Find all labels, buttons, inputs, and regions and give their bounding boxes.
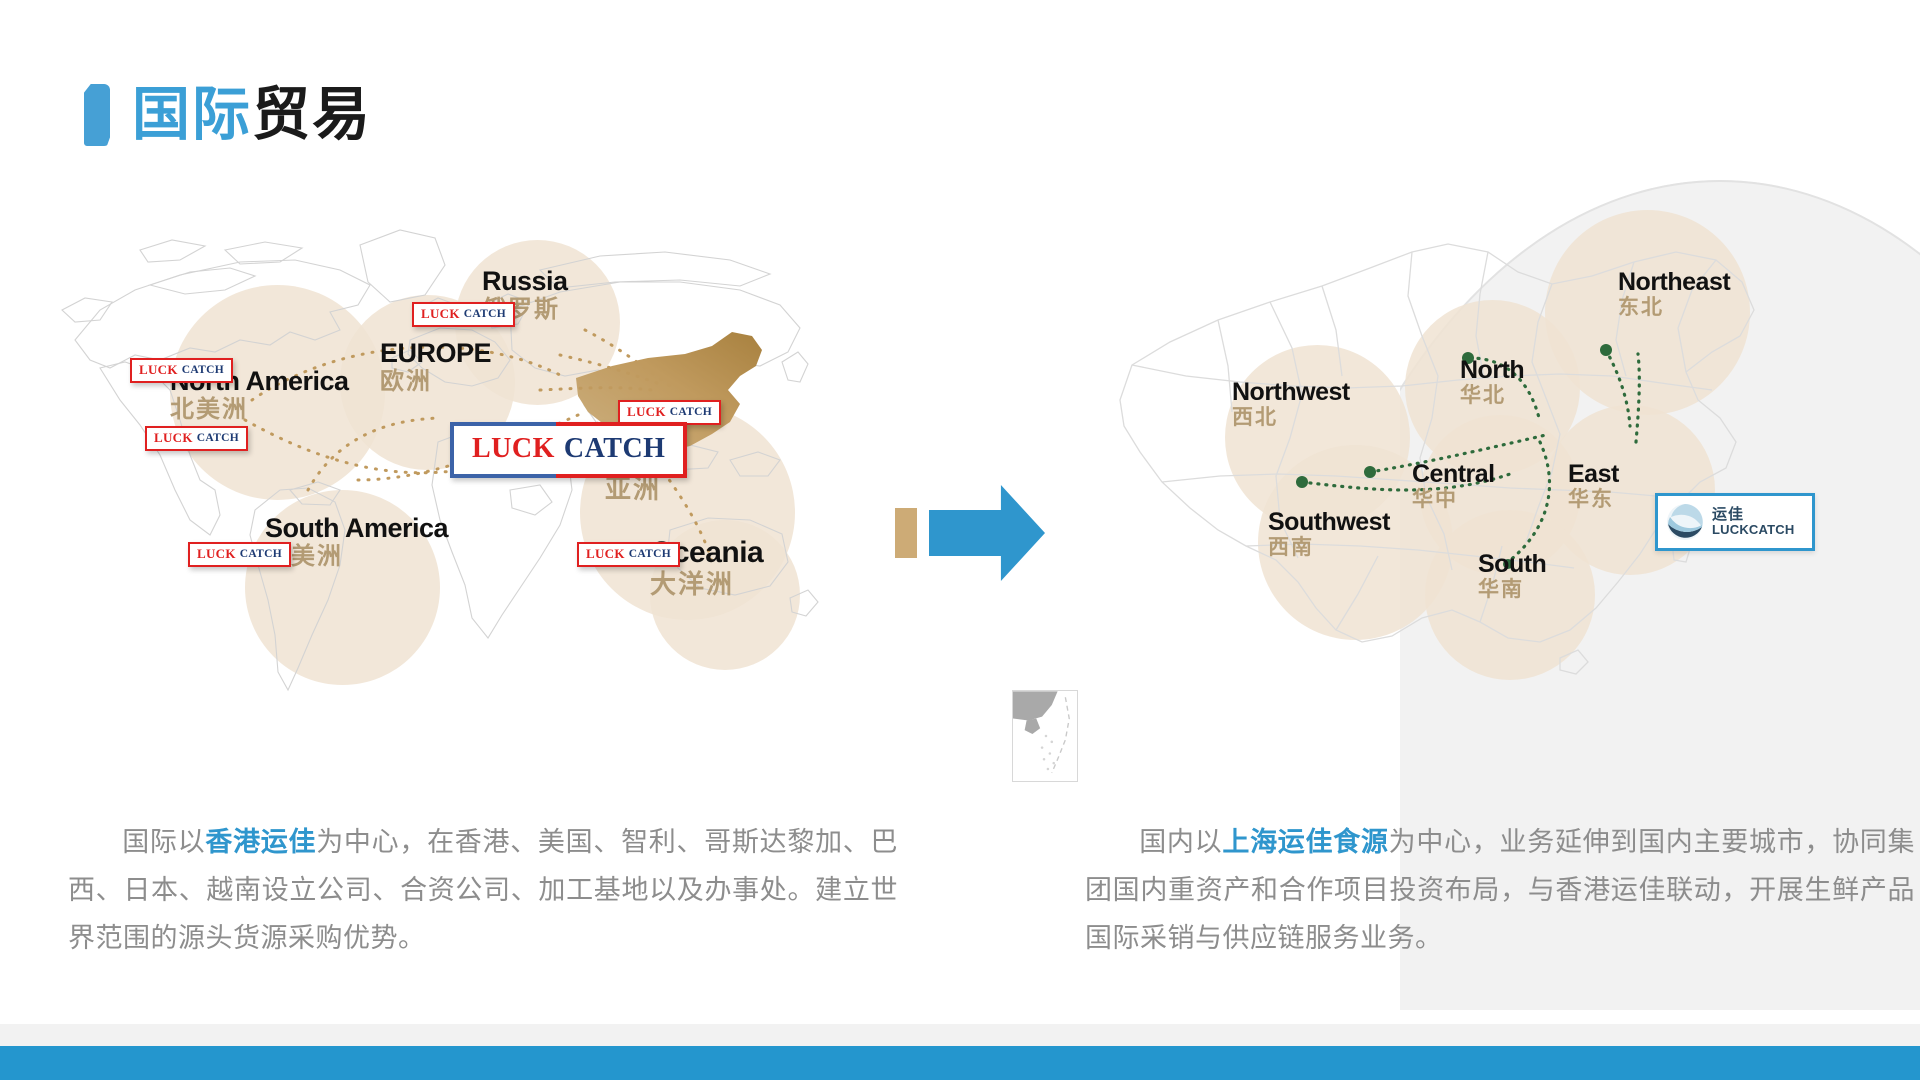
luck-catch-badge-oceania[interactable]: LUCKCATCH [577, 542, 680, 567]
paragraph-international: 国际以香港运佳为中心，在香港、美国、智利、哥斯达黎加、巴西、日本、越南设立公司、… [68, 818, 898, 962]
para-prefix: 国内以 [1139, 827, 1222, 857]
region-cn: 西南 [1268, 537, 1390, 558]
badge-catch: CATCH [629, 548, 671, 560]
badge-catch: CATCH [197, 432, 239, 444]
paragraph-domestic: 国内以上海运佳食源为中心，业务延伸到国内主要城市，协同集团国内重资产和合作项目投… [1085, 818, 1915, 962]
bottom-blue-bar [0, 1046, 1920, 1080]
region-cn: 南美洲 [265, 545, 448, 569]
luck-catch-badge-europe[interactable]: LUCKCATCH [412, 302, 515, 327]
region-cn: 亚洲 [605, 476, 683, 503]
badge-luck: LUCK [586, 546, 625, 562]
region-cn: 欧洲 [380, 370, 491, 394]
title-text: 国际贸易 [132, 86, 372, 144]
luckcatch-logo-icon [1666, 503, 1704, 541]
background-bottom-band [0, 1024, 1920, 1046]
region-cn: 北美洲 [170, 398, 349, 422]
region-label-northwest: Northwest 西北 [1232, 380, 1350, 428]
badge-luck: LUCK [472, 433, 555, 465]
luck-catch-hero-badge[interactable]: LUCKCATCH [450, 422, 687, 478]
title-accent-bar-icon [84, 84, 110, 146]
badge-luck: LUCK [139, 362, 178, 378]
badge-luck: LUCK [627, 404, 666, 420]
luckcatch-logo-card[interactable]: 运佳 LUCKCATCH [1655, 493, 1815, 551]
badge-catch: CATCH [182, 364, 224, 376]
region-en: East [1568, 462, 1619, 488]
region-cn: 华东 [1568, 489, 1619, 510]
badge-luck: LUCK [154, 430, 193, 446]
region-label-central: Central 华中 [1412, 462, 1495, 510]
para-highlight: 上海运佳食源 [1222, 827, 1388, 857]
south-china-sea-inset [1012, 690, 1078, 782]
region-en: South [1478, 552, 1546, 578]
region-label-europe: EUROPE 欧洲 [380, 340, 491, 394]
region-cn: 东北 [1618, 297, 1730, 318]
region-cn: 大洋洲 [650, 571, 763, 598]
region-en: EUROPE [380, 340, 491, 368]
china-map-panel: Northeast 东北 North 华北 Northwest 西北 Centr… [1040, 190, 1880, 790]
world-map-panel: North America 北美洲 EUROPE 欧洲 Russia 俄罗斯 S… [40, 190, 920, 790]
region-en: Northeast [1618, 270, 1730, 296]
region-cn: 华南 [1478, 579, 1546, 600]
badge-catch: CATCH [240, 548, 282, 560]
title-blue-part: 国际 [132, 82, 252, 147]
badge-luck: LUCK [197, 546, 236, 562]
region-label-east: East 华东 [1568, 462, 1619, 510]
luckcatch-logo-text: 运佳 LUCKCATCH [1712, 507, 1794, 536]
badge-luck: LUCK [421, 306, 460, 322]
region-en: Central [1412, 462, 1495, 488]
luck-catch-badge-north-america[interactable]: LUCKCATCH [130, 358, 233, 383]
page-title: 国际贸易 [84, 84, 372, 146]
badge-catch: CATCH [464, 308, 506, 320]
logo-en: LUCKCATCH [1712, 523, 1794, 537]
region-label-south-america: South America 南美洲 [265, 515, 448, 569]
region-cn: 西北 [1232, 407, 1350, 428]
logo-cn: 运佳 [1712, 507, 1794, 523]
arrow-tick-icon [895, 508, 917, 558]
region-en: Northwest [1232, 380, 1350, 406]
region-label-southwest: Southwest 西南 [1268, 510, 1390, 558]
para-highlight: 香港运佳 [205, 827, 316, 857]
badge-catch: CATCH [670, 406, 712, 418]
right-arrow-icon [929, 485, 1045, 581]
region-en: Russia [482, 268, 568, 296]
world-map-graphic [40, 190, 920, 790]
transition-arrow-group [895, 485, 1045, 581]
luck-catch-badge-usa-west[interactable]: LUCKCATCH [145, 426, 248, 451]
luck-catch-badge-south-america[interactable]: LUCKCATCH [188, 542, 291, 567]
region-en: South America [265, 515, 448, 543]
region-cn: 华北 [1460, 385, 1524, 406]
region-label-north: North 华北 [1460, 358, 1524, 406]
title-black-part: 贸易 [252, 82, 372, 147]
region-cn: 华中 [1412, 489, 1495, 510]
region-label-south: South 华南 [1478, 552, 1546, 600]
region-label-northeast: Northeast 东北 [1618, 270, 1730, 318]
para-prefix: 国际以 [122, 827, 205, 857]
badge-catch: CATCH [564, 433, 666, 465]
region-en: Southwest [1268, 510, 1390, 536]
region-en: North [1460, 358, 1524, 384]
